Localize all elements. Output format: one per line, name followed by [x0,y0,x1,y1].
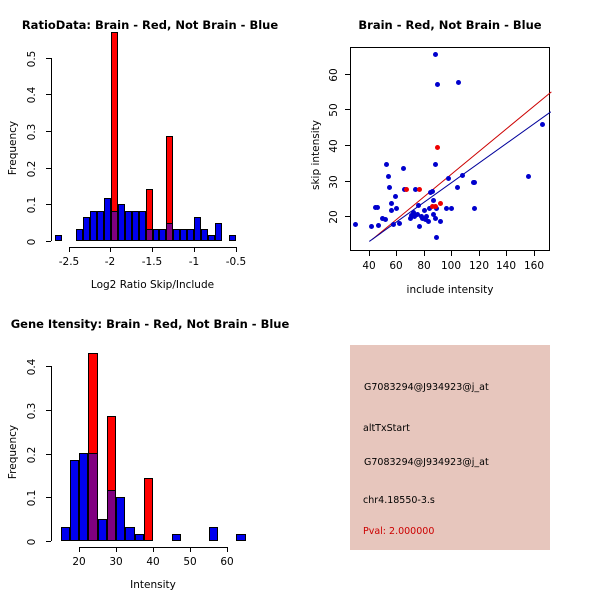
ratio-hist-y-label-04: 0.4 [26,83,38,107]
plot-page: RatioData: Brain - Red, Not Brain - Blue… [0,0,600,600]
gene-hist-y-axis-name: Frequency [7,417,19,487]
panel-probe-info: G7083294@J934923@j_at altTxStart G708329… [300,300,600,600]
gene-hist-x-label-40: 40 [133,556,173,568]
scatter-point-not-brain [386,174,391,179]
gene-hist-x-tick-40 [153,547,154,552]
ratio-hist-y-tick-01 [46,204,51,205]
gene-hist-y-label-00: 0 [26,530,38,554]
gene-hist-bar-blue [209,527,218,541]
scatter-x-tick-140 [506,251,507,256]
scatter-point-not-brain [435,82,440,87]
gene-hist-bar-red [144,478,153,541]
ratio-hist-bar-blue [201,229,208,241]
scatter-x-tick-160 [534,251,535,256]
ratio-hist-bar-blue [83,217,90,241]
scatter-point-not-brain [375,205,380,210]
scatter-point-not-brain [460,173,465,178]
gene-hist-x-label-30: 30 [96,556,136,568]
scatter-point-not-brain [389,208,394,213]
gene-hist-y-tick-03 [46,410,51,411]
gene-hist-y-label-02: 0.2 [26,443,38,467]
gene-hist-bar-blue [172,534,181,541]
ratio-hist-bar-blue [76,229,83,241]
ratio-hist-bar-blue [208,235,215,241]
scatter-x-tick-80 [424,251,425,256]
scatter-title: Brain - Red, Not Brain - Blue [300,18,600,32]
scatter-point-not-brain [449,206,454,211]
scatter-y-label-50: 50 [328,98,340,122]
ratio-hist-bar-overlap [146,229,153,241]
gene-hist-bar-blue [98,519,107,541]
ratio-hist-x-label-m25: -2.5 [49,256,89,268]
scatter-point-not-brain [353,222,358,227]
ratio-hist-bar-blue [180,229,187,241]
event-type-line: altTxStart [363,423,410,434]
ratio-hist-y-label-00: 0 [26,230,38,254]
scatter-x-tick-120 [479,251,480,256]
gene-hist-bar-blue [70,460,79,541]
gene-hist-y-tick-00 [46,541,51,542]
probe-id-line-2: G7083294@J934923@j_at [364,457,489,468]
gene-hist-x-label-60: 60 [207,556,247,568]
panel-ratio-histogram: RatioData: Brain - Red, Not Brain - Blue… [0,0,300,300]
ratio-hist-y-axis-name: Frequency [7,113,19,183]
ratio-hist-bar-overlap [166,223,173,241]
ratio-hist-bar-blue [139,211,146,241]
coordinate-line: chr4.18550-3.s [363,495,435,506]
gene-histogram-title: Gene Itensity: Brain - Red, Not Brain - … [0,317,300,331]
gene-hist-bar-overlap [88,453,97,541]
scatter-point-not-brain [384,162,389,167]
gene-hist-y-tick-04 [46,366,51,367]
scatter-y-axis-name: skip intensity [310,120,322,190]
probe-id-line: G7083294@J934923@j_at [364,382,489,393]
ratio-hist-bar-blue [187,229,194,241]
scatter-point-not-brain [456,80,461,85]
ratio-hist-y-tick-05 [46,58,51,59]
scatter-y-label-20: 20 [328,205,340,229]
scatter-x-tick-100 [451,251,452,256]
scatter-point-not-brain [431,198,436,203]
ratio-hist-x-label-m05: -0.5 [216,256,256,268]
scatter-point-not-brain [526,174,531,179]
pval-line: Pval: 2.000000 [363,526,434,537]
ratio-hist-x-tick-m05 [236,247,237,252]
ratio-hist-x-tick-m10 [194,247,195,252]
scatter-point-not-brain [391,222,396,227]
scatter-point-not-brain [416,203,421,208]
ratio-hist-x-axis-name: Log2 Ratio Skip/Include [40,279,265,291]
ratio-hist-bar-blue [173,229,180,241]
scatter-x-tick-60 [396,251,397,256]
panel-gene-intensity-histogram: Gene Itensity: Brain - Red, Not Brain - … [0,300,300,600]
ratio-hist-bar-blue [215,223,222,241]
gene-hist-bar-blue [236,534,245,541]
ratio-hist-bar-blue [229,235,236,241]
scatter-point-brain [438,201,443,206]
ratio-hist-y-axis [51,58,52,241]
scatter-point-not-brain [397,221,402,226]
scatter-point-not-brain [433,216,438,221]
ratio-hist-bar-blue [159,229,166,241]
scatter-point-not-brain [422,208,427,213]
ratio-hist-bar-overlap [111,211,118,241]
gene-hist-y-axis [51,366,52,541]
gene-hist-bar-blue [135,534,144,541]
ratio-hist-bar-blue [125,211,132,241]
scatter-point-not-brain [389,201,394,206]
gene-hist-bar-overlap [107,490,116,541]
scatter-point-not-brain [444,206,449,211]
scatter-point-not-brain [438,219,443,224]
ratio-hist-y-label-03: 0.3 [26,120,38,144]
ratio-hist-x-tick-m15 [152,247,153,252]
scatter-point-not-brain [472,180,477,185]
scatter-y-label-40: 40 [328,134,340,158]
scatter-point-not-brain [455,185,460,190]
scatter-point-brain [433,204,438,209]
gene-hist-bar-blue [61,527,70,541]
ratio-histogram-title: RatioData: Brain - Red, Not Brain - Blue [0,18,300,32]
ratio-hist-x-label-m20: -2 [90,256,130,268]
ratio-hist-bar-blue [97,211,104,241]
scatter-point-not-brain [424,214,429,219]
scatter-point-not-brain [540,122,545,127]
scatter-point-brain [435,145,440,150]
ratio-hist-bar-blue [118,204,125,241]
scatter-x-axis-name: include intensity [340,284,560,296]
scatter-point-brain [404,187,409,192]
scatter-point-not-brain [433,52,438,57]
scatter-x-label-160: 160 [514,260,554,272]
gene-hist-bar-blue [116,497,125,541]
ratio-hist-y-tick-00 [46,241,51,242]
ratio-hist-y-label-02: 0.2 [26,157,38,181]
scatter-point-not-brain [394,206,399,211]
gene-hist-bar-blue [125,527,134,541]
ratio-hist-y-tick-02 [46,168,51,169]
gene-hist-y-label-04: 0.4 [26,355,38,379]
gene-hist-y-tick-02 [46,454,51,455]
gene-hist-x-label-20: 20 [59,556,99,568]
ratio-hist-bar-blue [104,198,111,241]
gene-hist-x-tick-50 [190,547,191,552]
ratio-hist-bar-blue [90,211,97,241]
ratio-hist-bar-blue [132,211,139,241]
ratio-hist-bar-blue [153,229,160,241]
probe-info-box: G7083294@J934923@j_at altTxStart G708329… [350,345,550,550]
scatter-point-not-brain [433,162,438,167]
gene-hist-y-label-03: 0.3 [26,399,38,423]
scatter-point-not-brain [430,189,435,194]
scatter-point-not-brain [369,224,374,229]
gene-hist-y-label-01: 0.1 [26,486,38,510]
ratio-hist-y-label-05: 0.5 [26,47,38,71]
scatter-point-not-brain [426,219,431,224]
scatter-y-label-30: 30 [328,170,340,194]
scatter-y-label-60: 60 [328,63,340,87]
panel-intensity-scatter: Brain - Red, Not Brain - Blue 60 50 40 3… [300,0,600,300]
ratio-hist-bar-blue [55,235,62,241]
scatter-point-not-brain [376,223,381,228]
scatter-point-not-brain [401,166,406,171]
scatter-points-layer [350,47,550,251]
ratio-hist-x-tick-m20 [110,247,111,252]
scatter-point-not-brain [417,224,422,229]
scatter-point-not-brain [434,235,439,240]
ratio-hist-bar-blue [194,217,201,241]
gene-hist-x-tick-30 [116,547,117,552]
scatter-point-not-brain [446,176,451,181]
gene-hist-x-tick-20 [79,547,80,552]
ratio-hist-x-label-m15: -1.5 [132,256,172,268]
gene-hist-x-label-50: 50 [170,556,210,568]
ratio-hist-y-label-01: 0.1 [26,193,38,217]
gene-hist-x-axis-name: Intensity [63,579,243,591]
ratio-hist-x-tick-m25 [69,247,70,252]
gene-hist-y-tick-01 [46,497,51,498]
scatter-point-not-brain [383,217,388,222]
scatter-point-not-brain [472,206,477,211]
scatter-point-not-brain [393,194,398,199]
ratio-hist-y-tick-03 [46,131,51,132]
ratio-hist-x-label-m10: -1 [174,256,214,268]
gene-hist-x-tick-60 [227,547,228,552]
scatter-point-not-brain [387,185,392,190]
ratio-hist-y-tick-04 [46,94,51,95]
scatter-x-tick-40 [369,251,370,256]
gene-hist-bar-blue [79,453,88,541]
scatter-point-brain [417,187,422,192]
scatter-fit-line [372,92,551,240]
